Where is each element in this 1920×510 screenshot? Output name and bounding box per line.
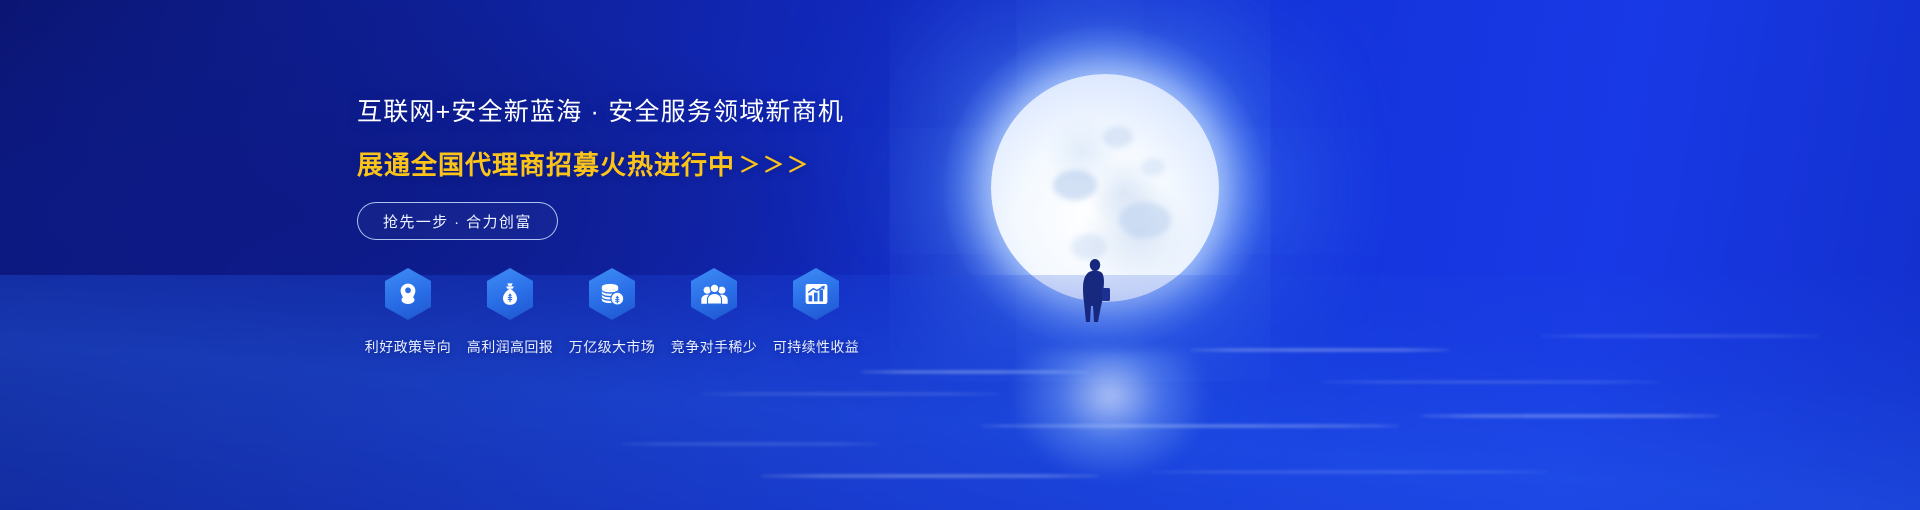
people-group-icon bbox=[691, 268, 737, 320]
moon-reflection bbox=[975, 350, 1245, 510]
feature-item[interactable]: 可持续性收益 bbox=[765, 268, 867, 357]
feature-label: 利好政策导向 bbox=[365, 337, 451, 357]
money-bag-yuan-icon bbox=[487, 268, 533, 320]
feature-item[interactable]: 利好政策导向 bbox=[357, 268, 459, 357]
feature-label: 万亿级大市场 bbox=[569, 337, 655, 357]
cta-button[interactable]: 抢先一步 · 合力创富 bbox=[357, 202, 558, 240]
feature-label: 可持续性收益 bbox=[773, 337, 859, 357]
feature-label: 高利润高回报 bbox=[467, 337, 553, 357]
banner-subheadline: 展通全国代理商招募火热进行中 ＞＞＞ bbox=[357, 145, 897, 182]
feature-item[interactable]: 万亿级大市场 bbox=[561, 268, 663, 357]
subheadline-text: 展通全国代理商招募火热进行中 bbox=[357, 145, 735, 182]
banner-headline: 互联网+安全新蓝海 · 安全服务领域新商机 bbox=[357, 92, 897, 128]
arrow-right-icon: ＞＞＞ bbox=[739, 149, 811, 179]
feature-item[interactable]: 高利润高回报 bbox=[459, 268, 561, 357]
feature-item[interactable]: 竞争对手稀少 bbox=[663, 268, 765, 357]
person-silhouette bbox=[1076, 258, 1116, 324]
location-pin-icon bbox=[385, 268, 431, 320]
water-surface bbox=[0, 275, 1920, 510]
coin-stack-yuan-icon bbox=[589, 268, 635, 320]
feature-list: 利好政策导向 高利润高回报 bbox=[357, 268, 897, 357]
promo-banner: 互联网+安全新蓝海 · 安全服务领域新商机 展通全国代理商招募火热进行中 ＞＞＞… bbox=[0, 0, 1920, 510]
banner-content: 互联网+安全新蓝海 · 安全服务领域新商机 展通全国代理商招募火热进行中 ＞＞＞… bbox=[357, 92, 897, 357]
feature-label: 竞争对手稀少 bbox=[671, 337, 757, 357]
bar-chart-trend-icon bbox=[793, 268, 839, 320]
